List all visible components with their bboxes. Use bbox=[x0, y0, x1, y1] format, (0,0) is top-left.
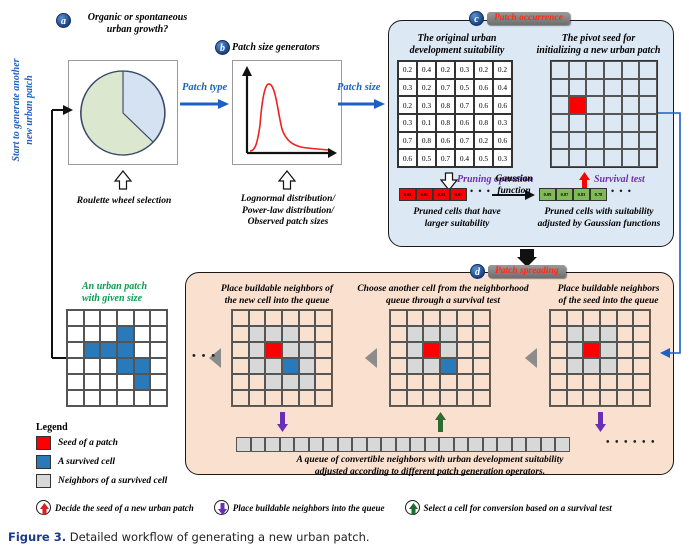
queue-cell bbox=[381, 437, 396, 452]
grid-cell bbox=[299, 342, 316, 358]
suitability-cell: 0.2 bbox=[417, 79, 436, 97]
grid-cell bbox=[473, 310, 490, 326]
suitability-cell: 0.6 bbox=[493, 96, 512, 114]
grid-cell bbox=[150, 390, 167, 406]
grid-cell bbox=[457, 342, 474, 358]
legend-action-label: Select a cell for conversion based on a … bbox=[424, 503, 612, 513]
queue-cell bbox=[309, 437, 324, 452]
grid-cell bbox=[551, 61, 569, 79]
grid-cell bbox=[440, 310, 457, 326]
queue-cell bbox=[396, 437, 411, 452]
grid-cell bbox=[567, 310, 584, 326]
legend-swatch bbox=[36, 436, 51, 450]
grid-cell bbox=[586, 61, 604, 79]
grid-cell bbox=[583, 358, 600, 374]
suitability-cell: 0.3 bbox=[398, 79, 417, 97]
legend-action: Select a cell for conversion based on a … bbox=[405, 500, 612, 515]
patch-size-label: Patch size bbox=[337, 82, 380, 93]
grid-cell bbox=[567, 374, 584, 390]
suitability-cell: 0.8 bbox=[474, 114, 493, 132]
grid-cell bbox=[633, 390, 650, 406]
grid-cell bbox=[440, 390, 457, 406]
suitability-cell: 0.2 bbox=[493, 61, 512, 79]
grid-cell bbox=[586, 96, 604, 114]
pruned-cell: 0.85 bbox=[433, 188, 450, 201]
suitability-cell: 0.2 bbox=[398, 96, 417, 114]
grid-cell bbox=[617, 326, 634, 342]
survived-cell bbox=[440, 358, 457, 374]
suitability-cell: 0.7 bbox=[436, 79, 455, 97]
adjusted-cells-strip: 0.890.870.830.78 bbox=[539, 188, 607, 201]
grid-cell bbox=[639, 79, 657, 97]
grid-cell bbox=[550, 326, 567, 342]
suitability-cell: 0.8 bbox=[417, 132, 436, 150]
figure-caption-text: Detailed workflow of generating a new ur… bbox=[70, 530, 370, 544]
grid-cell bbox=[390, 374, 407, 390]
grid-cell bbox=[282, 326, 299, 342]
pruned-cells-strip: 0.950.930.850.81 bbox=[399, 188, 467, 201]
grid-cell bbox=[551, 132, 569, 150]
distribution-curve bbox=[233, 61, 341, 164]
gaussian-function-label: Gaussianfunction bbox=[490, 174, 538, 197]
queue-cell bbox=[236, 437, 251, 452]
suitability-cell: 0.7 bbox=[436, 149, 455, 167]
spreading-grid-2 bbox=[389, 309, 491, 407]
survived-cell bbox=[134, 374, 151, 390]
suitability-cell: 0.8 bbox=[436, 114, 455, 132]
grid-cell bbox=[550, 310, 567, 326]
grid-cell bbox=[249, 390, 266, 406]
queue-cell bbox=[512, 437, 527, 452]
grid-cell bbox=[622, 149, 640, 167]
grid-cell bbox=[407, 342, 424, 358]
panel-b-id: b bbox=[215, 40, 230, 55]
suitability-cell: 0.2 bbox=[474, 132, 493, 150]
grid-cell bbox=[473, 326, 490, 342]
grid-cell bbox=[639, 61, 657, 79]
grid-cell bbox=[249, 310, 266, 326]
grid-cell bbox=[622, 114, 640, 132]
grid-cell bbox=[232, 374, 249, 390]
grid-cell bbox=[457, 358, 474, 374]
grid-cell bbox=[407, 326, 424, 342]
queue-cell bbox=[410, 437, 425, 452]
grid-cell bbox=[440, 342, 457, 358]
grid-cell bbox=[473, 374, 490, 390]
grid-cell bbox=[473, 342, 490, 358]
grid-cell bbox=[390, 326, 407, 342]
suitability-cell: 0.4 bbox=[455, 149, 474, 167]
adjusted-ellipsis: • • • bbox=[611, 186, 632, 196]
suitability-cell: 0.6 bbox=[436, 132, 455, 150]
grid-cell bbox=[583, 390, 600, 406]
grid-cell bbox=[232, 326, 249, 342]
grid-cell bbox=[583, 310, 600, 326]
panel-c-header: c Patch occurrence bbox=[469, 11, 570, 26]
panel-a-title: Organic or spontaneousurban growth? bbox=[70, 12, 205, 36]
queue-cell bbox=[483, 437, 498, 452]
grid-cell bbox=[440, 374, 457, 390]
grid-cell bbox=[232, 310, 249, 326]
grid-cell bbox=[249, 374, 266, 390]
grid-cell bbox=[457, 326, 474, 342]
grid-cell bbox=[423, 310, 440, 326]
hollow-arrow-up-b-icon bbox=[277, 170, 297, 190]
panel-b-badge: b bbox=[215, 40, 230, 55]
legend-actions: Decide the seed of a new urban patchPlac… bbox=[36, 500, 612, 515]
queue-cell bbox=[352, 437, 367, 452]
legend-item: Seed of a patch bbox=[36, 436, 167, 450]
loop-back-label: Start to generate anothernew urban patch bbox=[10, 40, 36, 180]
panel-d-step3-title: Place buildable neighborsof the seed int… bbox=[546, 284, 671, 307]
grid-cell bbox=[617, 390, 634, 406]
grid-cell bbox=[569, 132, 587, 150]
grid-cell bbox=[390, 358, 407, 374]
grid-cell bbox=[550, 390, 567, 406]
grid-cell bbox=[633, 326, 650, 342]
grid-cell bbox=[604, 96, 622, 114]
grid-cell bbox=[407, 390, 424, 406]
queue-cell bbox=[439, 437, 454, 452]
grid-cell bbox=[407, 358, 424, 374]
adjusted-cells-caption: Pruned cells with suitabilityadjusted by… bbox=[526, 207, 672, 230]
pivot-seed-grid bbox=[550, 60, 658, 168]
suitability-cell: 0.6 bbox=[474, 96, 493, 114]
grid-cell bbox=[550, 358, 567, 374]
grid-cell bbox=[473, 390, 490, 406]
grid-cell bbox=[423, 390, 440, 406]
grid-cell bbox=[457, 310, 474, 326]
legend-item-label: Neighbors of a survived cell bbox=[58, 476, 167, 486]
grid-cell bbox=[617, 342, 634, 358]
grid-cell bbox=[622, 132, 640, 150]
patch-size-distribution-box bbox=[232, 60, 342, 165]
queue-cell bbox=[280, 437, 295, 452]
queue-cell bbox=[468, 437, 483, 452]
queue-caption: A queue of convertible neighbors with ur… bbox=[260, 455, 600, 478]
grid-cell bbox=[567, 390, 584, 406]
suitability-cell: 0.6 bbox=[455, 114, 474, 132]
suitability-cell: 0.7 bbox=[455, 132, 474, 150]
arrow-down-purple-icon bbox=[276, 412, 289, 432]
grid-cell bbox=[551, 79, 569, 97]
patch-size-arrow-icon bbox=[338, 98, 386, 110]
grid-cell bbox=[299, 374, 316, 390]
grid-cell bbox=[604, 149, 622, 167]
grid-cell bbox=[600, 374, 617, 390]
queue-cell bbox=[541, 437, 556, 452]
grid-cell bbox=[299, 390, 316, 406]
grid-cell bbox=[440, 326, 457, 342]
grid-cell bbox=[633, 374, 650, 390]
grid-cell bbox=[390, 342, 407, 358]
grid-cell bbox=[265, 326, 282, 342]
grid-cell bbox=[249, 342, 266, 358]
suitability-title: The original urbandevelopment suitabilit… bbox=[396, 33, 518, 57]
grid-cell bbox=[265, 374, 282, 390]
grid-cell bbox=[569, 61, 587, 79]
seed-cell bbox=[423, 342, 440, 358]
grid-cell bbox=[299, 358, 316, 374]
panel-a-badge: a bbox=[56, 13, 71, 28]
grid-cell bbox=[84, 390, 101, 406]
grid-cell bbox=[604, 61, 622, 79]
grid-cell bbox=[265, 390, 282, 406]
queue-cell bbox=[497, 437, 512, 452]
grid-cell bbox=[423, 358, 440, 374]
adjusted-cell: 0.83 bbox=[573, 188, 590, 201]
panel-c-id: c bbox=[469, 11, 484, 26]
panel-c-badge-label: Patch occurrence bbox=[487, 12, 570, 25]
arrow-up-green-icon bbox=[405, 500, 420, 515]
grid-cell bbox=[67, 390, 84, 406]
grid-cell bbox=[265, 310, 282, 326]
grid-cell bbox=[282, 374, 299, 390]
legend-action: Place buildable neighbors into the queue bbox=[214, 500, 385, 515]
queue-cell bbox=[338, 437, 353, 452]
grid-cell bbox=[117, 374, 134, 390]
pruned-cell: 0.95 bbox=[399, 188, 416, 201]
seed-cell bbox=[583, 342, 600, 358]
pruned-ellipsis: • • • bbox=[470, 186, 491, 196]
grid-cell bbox=[282, 342, 299, 358]
suitability-cell: 0.4 bbox=[493, 79, 512, 97]
spreading-grid-1 bbox=[231, 309, 333, 407]
grid-cell bbox=[569, 79, 587, 97]
survival-test-label: Survival test bbox=[594, 174, 645, 185]
grid-cell bbox=[232, 390, 249, 406]
seed-cell bbox=[265, 342, 282, 358]
grid-cell bbox=[567, 342, 584, 358]
survived-cell bbox=[282, 358, 299, 374]
grid-cell bbox=[390, 310, 407, 326]
grid-cell bbox=[423, 326, 440, 342]
grid-cell bbox=[315, 358, 332, 374]
grid-cell bbox=[622, 61, 640, 79]
grid-cell bbox=[407, 374, 424, 390]
grid-cell bbox=[583, 326, 600, 342]
grid-cell bbox=[551, 96, 569, 114]
legend-block: Legend Seed of a patchA survived cellNei… bbox=[36, 422, 167, 493]
grid-cell bbox=[457, 390, 474, 406]
grid-cell bbox=[282, 310, 299, 326]
suitability-cell: 0.2 bbox=[436, 61, 455, 79]
grid-cell bbox=[551, 149, 569, 167]
figure-caption: Figure 3. Detailed workflow of generatin… bbox=[8, 530, 678, 544]
grid-cell bbox=[551, 114, 569, 132]
grid-cell bbox=[150, 374, 167, 390]
grid-cell bbox=[315, 326, 332, 342]
panel-d-header: d Patch spreading bbox=[470, 264, 566, 279]
queue-cell bbox=[555, 437, 570, 452]
grid-cell bbox=[100, 374, 117, 390]
grid-cell bbox=[67, 374, 84, 390]
grid-cell bbox=[622, 96, 640, 114]
legend-items: Seed of a patchA survived cellNeighbors … bbox=[36, 436, 167, 488]
panel-d-step1-title: Place buildable neighbors ofthe new cell… bbox=[212, 284, 342, 307]
legend-swatch bbox=[36, 455, 51, 469]
suitability-cell: 0.8 bbox=[436, 96, 455, 114]
adjusted-cell: 0.78 bbox=[590, 188, 607, 201]
grid-cell bbox=[586, 114, 604, 132]
pruned-cells-caption: Pruned cells that havelarger suitability bbox=[392, 207, 522, 230]
queue-cell bbox=[251, 437, 266, 452]
suitability-cell: 0.3 bbox=[417, 96, 436, 114]
legend-action-label: Decide the seed of a new urban patch bbox=[55, 503, 194, 513]
spreading-grid-3 bbox=[549, 309, 651, 407]
legend-title: Legend bbox=[36, 422, 167, 433]
panel-d-id: d bbox=[470, 264, 485, 279]
legend-item: A survived cell bbox=[36, 455, 167, 469]
panel-b-caption: Lognormal distribution/Power-law distrib… bbox=[218, 194, 358, 229]
panel-b-title: Patch size generators bbox=[232, 42, 352, 54]
figure-label: Figure 3. bbox=[8, 530, 66, 544]
neighbor-queue bbox=[236, 437, 570, 452]
grid-cell bbox=[315, 374, 332, 390]
grid-cell bbox=[315, 310, 332, 326]
grid-cell bbox=[299, 326, 316, 342]
grid-cell bbox=[550, 374, 567, 390]
adjusted-cell: 0.89 bbox=[539, 188, 556, 201]
grid-cell bbox=[249, 326, 266, 342]
grid-cell bbox=[569, 114, 587, 132]
grid-cell bbox=[604, 132, 622, 150]
suitability-cell: 0.3 bbox=[493, 149, 512, 167]
grid-cell bbox=[390, 390, 407, 406]
grid-cell bbox=[586, 79, 604, 97]
suitability-cell: 0.2 bbox=[398, 61, 417, 79]
grid-cell bbox=[567, 358, 584, 374]
suitability-cell: 0.3 bbox=[398, 114, 417, 132]
step-arrow-left-2-icon bbox=[364, 347, 378, 369]
queue-ellipsis: • • • • • • bbox=[606, 437, 656, 448]
grid-cell bbox=[315, 390, 332, 406]
panel-d-badge-label: Patch spreading bbox=[488, 265, 566, 278]
queue-cell bbox=[294, 437, 309, 452]
arrow-down-purple-icon bbox=[214, 500, 229, 515]
grid-cell bbox=[315, 342, 332, 358]
grid-cell bbox=[134, 390, 151, 406]
grid-cell bbox=[622, 79, 640, 97]
grid-cell bbox=[600, 342, 617, 358]
grid-cell bbox=[249, 358, 266, 374]
legend-swatch bbox=[36, 474, 51, 488]
arrow-down-purple-2-icon bbox=[594, 412, 607, 432]
c-to-d-connector bbox=[655, 105, 689, 360]
panel-a-id: a bbox=[56, 13, 71, 28]
grid-cell bbox=[299, 310, 316, 326]
suitability-cell: 0.1 bbox=[417, 114, 436, 132]
legend-item-label: Seed of a patch bbox=[58, 438, 118, 448]
arrow-up-red-icon bbox=[36, 500, 51, 515]
grid-cell bbox=[600, 310, 617, 326]
grid-cell bbox=[586, 149, 604, 167]
grid-cell bbox=[473, 358, 490, 374]
arrow-up-green-icon bbox=[434, 412, 447, 432]
grid-cell bbox=[617, 310, 634, 326]
grid-cell bbox=[117, 390, 134, 406]
queue-cell bbox=[323, 437, 338, 452]
grid-cell bbox=[407, 310, 424, 326]
step-arrow-left-3-icon bbox=[524, 347, 538, 369]
suitability-cell: 0.7 bbox=[398, 132, 417, 150]
grid-cell bbox=[633, 358, 650, 374]
grid-cell bbox=[633, 310, 650, 326]
grid-cell bbox=[586, 132, 604, 150]
grid-cell bbox=[617, 358, 634, 374]
suitability-cell: 0.3 bbox=[455, 61, 474, 79]
grid-cell bbox=[583, 374, 600, 390]
pruned-cell: 0.81 bbox=[450, 188, 467, 201]
suitability-matrix: 0.20.40.20.30.20.20.30.20.70.50.60.40.20… bbox=[397, 60, 513, 168]
grid-cell bbox=[84, 374, 101, 390]
suitability-cell: 0.4 bbox=[417, 61, 436, 79]
pivot-seed-title: The pivot seed forinitializing a new urb… bbox=[531, 33, 666, 57]
suitability-cell: 0.3 bbox=[493, 114, 512, 132]
suitability-cell: 0.5 bbox=[474, 149, 493, 167]
grid-cell bbox=[457, 374, 474, 390]
grid-cell bbox=[600, 358, 617, 374]
seed-cell bbox=[569, 96, 587, 114]
grid-cell bbox=[600, 390, 617, 406]
grid-cell bbox=[567, 326, 584, 342]
grid-cell bbox=[604, 79, 622, 97]
grid-cell bbox=[100, 390, 117, 406]
suitability-cell: 0.6 bbox=[474, 79, 493, 97]
grid-cell bbox=[569, 149, 587, 167]
queue-cell bbox=[425, 437, 440, 452]
grid-cell bbox=[600, 326, 617, 342]
grid-cell bbox=[232, 342, 249, 358]
queue-cell bbox=[454, 437, 469, 452]
suitability-cell: 0.5 bbox=[455, 79, 474, 97]
adjusted-cell: 0.87 bbox=[556, 188, 573, 201]
panel-d-step2-title: Choose another cell from the neighborhoo… bbox=[348, 284, 538, 307]
queue-cell bbox=[526, 437, 541, 452]
grid-cell bbox=[423, 374, 440, 390]
suitability-cell: 0.6 bbox=[398, 149, 417, 167]
legend-action-label: Place buildable neighbors into the queue bbox=[233, 503, 385, 513]
legend-item: Neighbors of a survived cell bbox=[36, 474, 167, 488]
grid-cell bbox=[232, 358, 249, 374]
legend-action: Decide the seed of a new urban patch bbox=[36, 500, 194, 515]
queue-cell bbox=[367, 437, 382, 452]
suitability-cell: 0.2 bbox=[474, 61, 493, 79]
suitability-cell: 0.6 bbox=[493, 132, 512, 150]
suitability-cell: 0.5 bbox=[417, 149, 436, 167]
grid-cell bbox=[617, 374, 634, 390]
grid-cell bbox=[550, 342, 567, 358]
grid-cell bbox=[604, 114, 622, 132]
grid-cell bbox=[633, 342, 650, 358]
queue-cell bbox=[265, 437, 280, 452]
legend-item-label: A survived cell bbox=[58, 457, 115, 467]
grid-cell bbox=[265, 358, 282, 374]
grid-cell bbox=[282, 390, 299, 406]
suitability-cell: 0.7 bbox=[455, 96, 474, 114]
pruned-cell: 0.93 bbox=[416, 188, 433, 201]
